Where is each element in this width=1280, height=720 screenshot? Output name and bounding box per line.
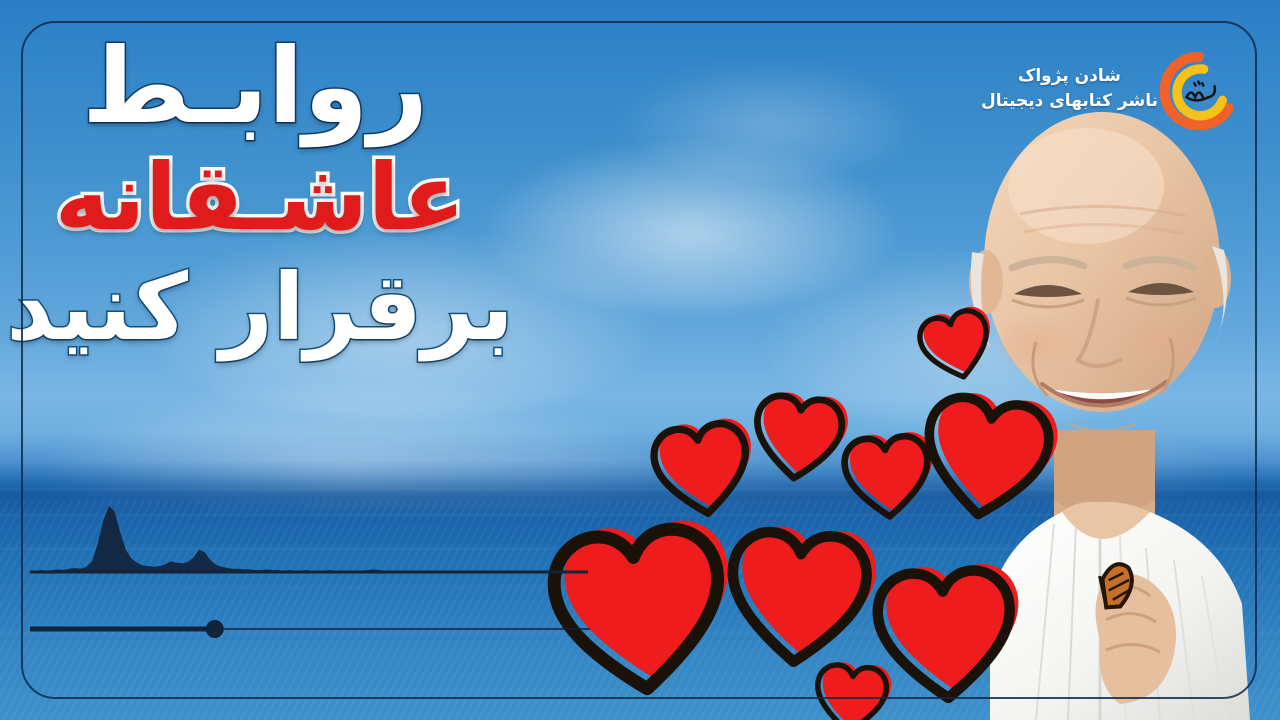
title-block: روابـط عاشـقانه برقرار کنید <box>0 34 520 354</box>
heart-small-bottom <box>814 660 893 720</box>
title-line-3: برقرار کنید <box>0 262 520 354</box>
hearts-cluster <box>540 290 1100 720</box>
publisher-name: شادن پژواک <box>981 64 1158 89</box>
publisher-tagline: ناشر کتابهای دیجیتال <box>981 89 1158 114</box>
shadan-swoosh-logo-icon <box>1160 52 1238 130</box>
seek-slider-knob[interactable] <box>206 620 224 638</box>
heart-upper-left <box>650 415 760 519</box>
audio-waveform-icon <box>30 500 588 580</box>
title-line-1: روابـط <box>0 34 510 138</box>
heart-big-mid <box>727 524 879 667</box>
seek-slider[interactable] <box>30 618 590 640</box>
title-line-2: عاشـقانه <box>0 152 520 244</box>
heart-upper-mid <box>752 390 851 483</box>
heart-right-large <box>919 388 1062 524</box>
hearts-illustration <box>540 290 1100 720</box>
heart-upper-right <box>843 431 937 520</box>
heart-big-right <box>875 562 1023 701</box>
publisher-block: شادن پژواک ناشر کتابهای دیجیتال <box>981 64 1158 113</box>
heart-top-right <box>915 303 1000 385</box>
cover-stage: روابـط عاشـقانه برقرار کنید شادن پژواک ن… <box>0 0 1280 720</box>
